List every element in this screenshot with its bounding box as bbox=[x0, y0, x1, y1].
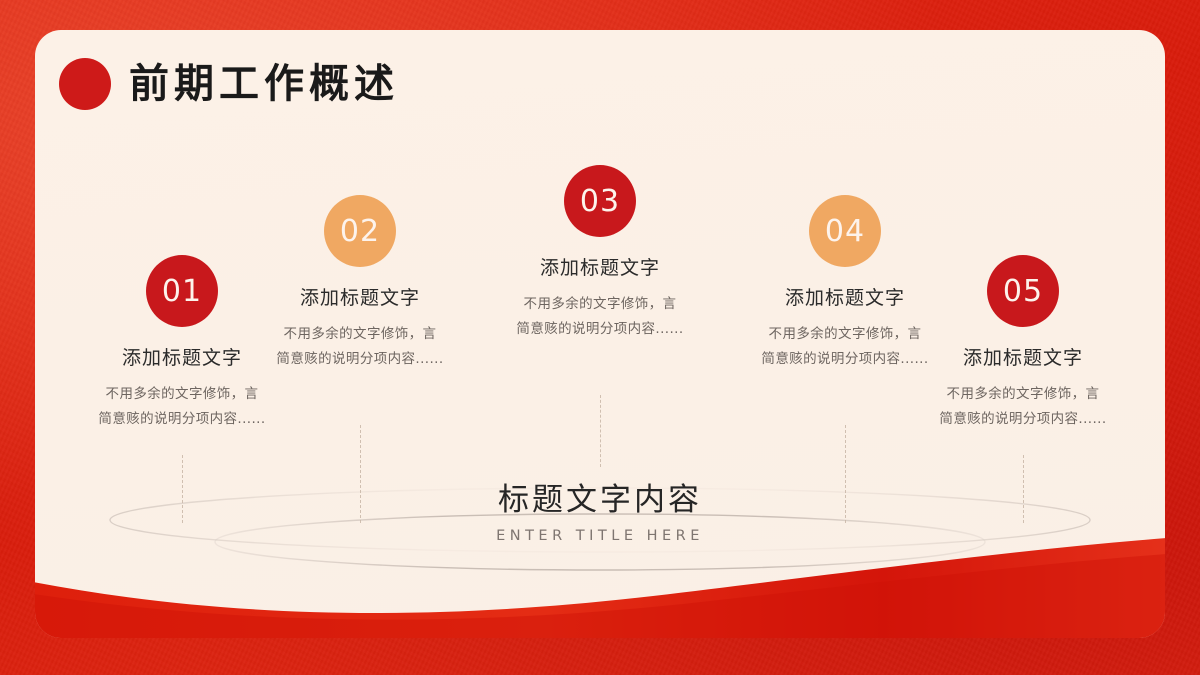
step-desc-line-2: 简意赅的说明分项内容...... bbox=[245, 347, 475, 372]
step-number-badge-05: 05 bbox=[987, 255, 1059, 327]
connector-line-03 bbox=[600, 395, 601, 467]
step-desc-line-2: 简意赅的说明分项内容...... bbox=[485, 317, 715, 342]
step-item-02[interactable]: 02 添加标题文字 不用多余的文字修饰，言 简意赅的说明分项内容...... bbox=[245, 195, 475, 372]
step-title-03: 添加标题文字 bbox=[485, 253, 715, 280]
step-desc-line-2: 简意赅的说明分项内容...... bbox=[67, 407, 297, 432]
step-desc-line-1: 不用多余的文字修饰，言 bbox=[67, 382, 297, 407]
step-number-badge-03: 03 bbox=[564, 165, 636, 237]
step-desc-05: 不用多余的文字修饰，言 简意赅的说明分项内容...... bbox=[908, 382, 1138, 432]
step-number-badge-01: 01 bbox=[146, 255, 218, 327]
circle-bullet-icon bbox=[59, 58, 111, 110]
step-desc-03: 不用多余的文字修饰，言 简意赅的说明分项内容...... bbox=[485, 292, 715, 342]
step-item-05[interactable]: 05 添加标题文字 不用多余的文字修饰，言 简意赅的说明分项内容...... bbox=[908, 255, 1138, 432]
step-title-02: 添加标题文字 bbox=[245, 283, 475, 310]
step-desc-line-1: 不用多余的文字修饰，言 bbox=[485, 292, 715, 317]
step-desc-line-1: 不用多余的文字修饰，言 bbox=[245, 322, 475, 347]
step-item-03[interactable]: 03 添加标题文字 不用多余的文字修饰，言 简意赅的说明分项内容...... bbox=[485, 165, 715, 342]
step-desc-line-1: 不用多余的文字修饰，言 bbox=[908, 382, 1138, 407]
stage-title-zh: 标题文字内容 bbox=[35, 474, 1165, 519]
content-card: 前期工作概述 01 添加标题文字 不用多余的文字修饰，言 简意赅的说明分项内容.… bbox=[35, 30, 1165, 638]
step-title-05: 添加标题文字 bbox=[908, 343, 1138, 370]
red-wave-decoration bbox=[35, 520, 1165, 638]
page-title: 前期工作概述 bbox=[129, 64, 399, 104]
step-desc-line-2: 简意赅的说明分项内容...... bbox=[908, 407, 1138, 432]
slide-header: 前期工作概述 bbox=[59, 58, 399, 110]
step-desc-01: 不用多余的文字修饰，言 简意赅的说明分项内容...... bbox=[67, 382, 297, 432]
step-desc-02: 不用多余的文字修饰，言 简意赅的说明分项内容...... bbox=[245, 322, 475, 372]
slide-root: 前期工作概述 01 添加标题文字 不用多余的文字修饰，言 简意赅的说明分项内容.… bbox=[0, 0, 1200, 675]
step-number-badge-02: 02 bbox=[324, 195, 396, 267]
step-number-badge-04: 04 bbox=[809, 195, 881, 267]
